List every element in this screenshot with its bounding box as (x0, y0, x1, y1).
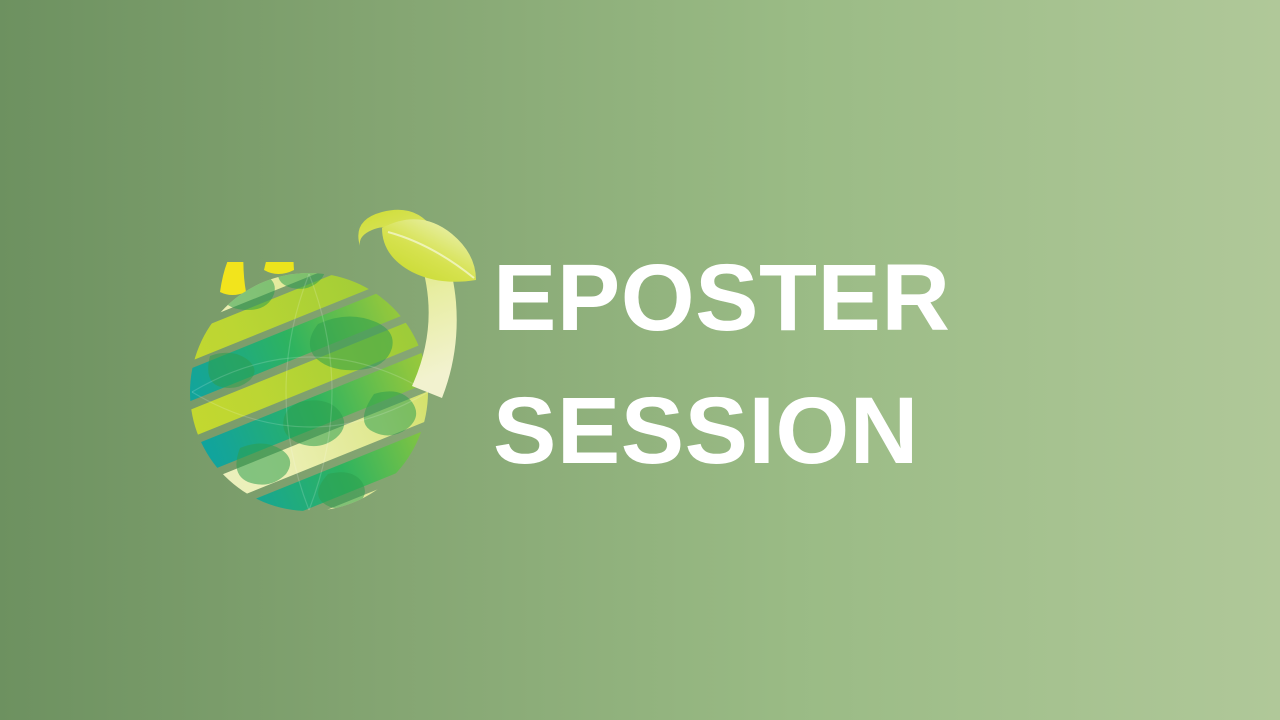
globe-leaf-logo-icon (168, 196, 488, 526)
brand-logo (168, 196, 488, 526)
eposter-session-slide: EPOSTER SESSION (0, 0, 1280, 720)
slide-title: EPOSTER SESSION (493, 232, 1133, 498)
title-line-session: SESSION (493, 365, 1133, 498)
title-line-eposter: EPOSTER (493, 232, 1133, 365)
leaf-icon (382, 219, 476, 281)
